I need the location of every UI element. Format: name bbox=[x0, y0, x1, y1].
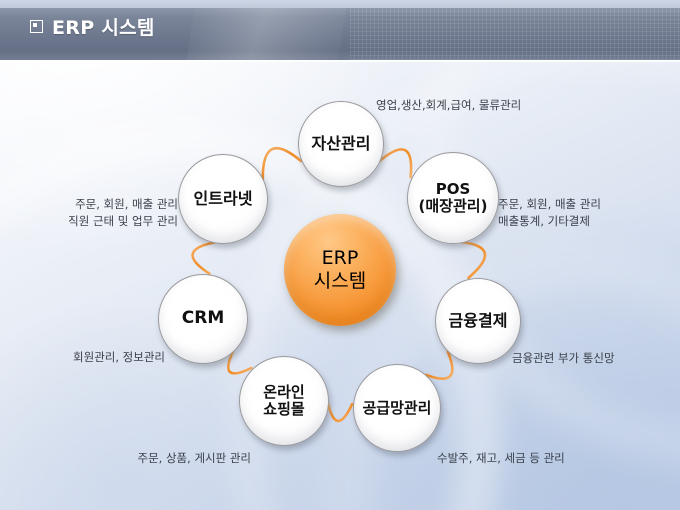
caption-online-shopping-mall: 주문, 상품, 게시판 관리 bbox=[101, 450, 251, 467]
connector-arc bbox=[328, 403, 352, 421]
erp-system-diagram: ERP시스템자산관리POS(매장관리)금융결제공급망관리온라인쇼핑몰CRM인트라… bbox=[0, 60, 680, 510]
center-node-label: ERP시스템 bbox=[314, 247, 366, 293]
caption-intranet: 주문, 회원, 매출 관리 직원 근태 및 업무 관리 bbox=[28, 196, 178, 229]
caption-crm: 회원관리, 정보관리 bbox=[35, 349, 165, 366]
node-label: CRM bbox=[182, 309, 224, 328]
node-intranet[interactable]: 인트라넷 bbox=[178, 154, 268, 244]
center-node-erp-system[interactable]: ERP시스템 bbox=[284, 214, 396, 326]
caption-supply-chain-management: 수발주, 재고, 세금 등 관리 bbox=[437, 450, 565, 467]
node-asset-management[interactable]: 자산관리 bbox=[298, 101, 384, 187]
slide-title-row: ERP 시스템 bbox=[30, 0, 155, 52]
header-sheen bbox=[181, 8, 349, 60]
node-pos[interactable]: POS(매장관리) bbox=[407, 152, 499, 244]
slide-canvas: ERP 시스템 ERP시스템자산관리POS(매장관리)금융결제공급망관리온라인쇼… bbox=[0, 0, 680, 510]
node-label: POS(매장관리) bbox=[419, 181, 488, 215]
connector-arc bbox=[426, 351, 452, 378]
connector-arc bbox=[263, 148, 301, 179]
node-label: 자산관리 bbox=[312, 135, 371, 153]
node-label: 금융결제 bbox=[449, 312, 508, 330]
caption-asset-management: 영업,생산,회계,급여, 물류관리 bbox=[376, 97, 521, 114]
caption-pos: 주문, 회원, 매출 관리 매출통계, 기타결제 bbox=[498, 196, 601, 229]
filled-square-icon bbox=[30, 20, 43, 33]
node-financial-settlement[interactable]: 금융결제 bbox=[435, 278, 521, 364]
node-label: 온라인쇼핑몰 bbox=[263, 384, 304, 418]
connector-arc bbox=[193, 242, 215, 273]
connector-arc bbox=[461, 242, 485, 278]
node-label: 인트라넷 bbox=[194, 190, 253, 208]
node-crm[interactable]: CRM bbox=[158, 274, 248, 364]
page-title: ERP 시스템 bbox=[52, 13, 155, 40]
node-supply-chain-management[interactable]: 공급망관리 bbox=[353, 364, 441, 452]
connector-arc bbox=[379, 149, 411, 177]
node-label: 공급망관리 bbox=[362, 400, 431, 417]
header-mesh-texture bbox=[350, 8, 680, 60]
node-online-shopping-mall[interactable]: 온라인쇼핑몰 bbox=[239, 356, 329, 446]
caption-financial-settlement: 금융관련 부가 통신망 bbox=[512, 350, 615, 367]
